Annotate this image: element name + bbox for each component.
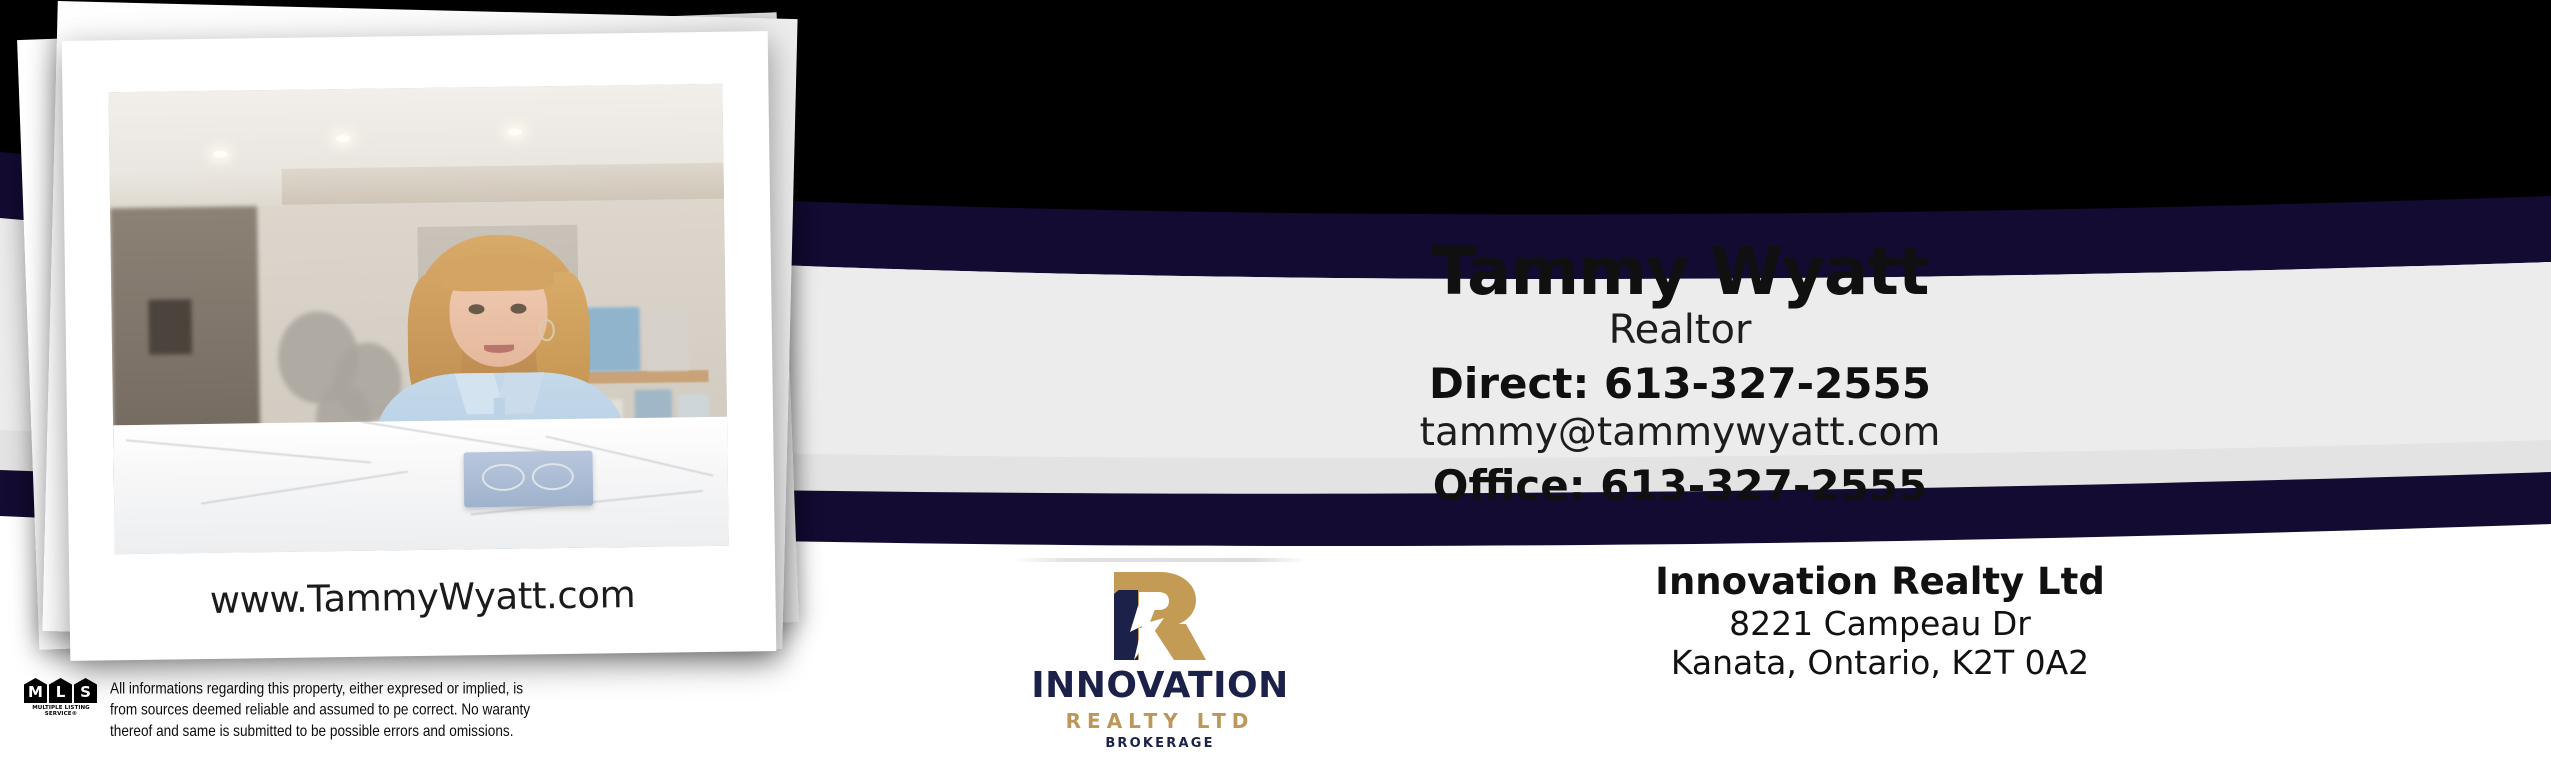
website-url[interactable]: www.TammyWyatt.com xyxy=(69,571,776,624)
agent-photo xyxy=(108,84,728,555)
realtor-banner: www.TammyWyatt.com Tammy Wyatt Realtor D… xyxy=(0,0,2551,760)
company-block: Innovation Realty Ltd 8221 Campeau Dr Ka… xyxy=(1600,560,2160,683)
agent-name: Tammy Wyatt xyxy=(1280,238,2080,305)
disclaimer-text: All informations regarding this property… xyxy=(110,678,540,741)
company-address-line1: 8221 Campeau Dr xyxy=(1600,604,2160,644)
agent-role: Realtor xyxy=(1280,307,2080,354)
agent-direct-phone[interactable]: Direct: 613-327-2555 xyxy=(1280,359,2080,409)
interior-scene xyxy=(108,84,728,555)
mls-caption: MULTIPLE LISTING SERVICE® xyxy=(23,705,98,717)
ir-monogram-icon xyxy=(1010,566,1310,666)
logo-divider xyxy=(1012,558,1307,562)
agent-photo-card: www.TammyWyatt.com xyxy=(62,31,777,661)
agent-email[interactable]: tammy@tammywyatt.com xyxy=(1280,410,2080,457)
mls-letter: M xyxy=(28,685,43,703)
company-address-line2: Kanata, Ontario, K2T 0A2 xyxy=(1600,643,2160,683)
mls-logo-icon: M L S MULTIPLE LISTING SERVICE® xyxy=(24,678,98,717)
logo-wordmark-sub: REALTY LTD xyxy=(1010,711,1310,731)
contact-block: Tammy Wyatt Realtor Direct: 613-327-2555… xyxy=(1280,238,2080,510)
company-name: Innovation Realty Ltd xyxy=(1600,560,2160,604)
brokerage-logo[interactable]: INNOVATION REALTY LTD BROKERAGE xyxy=(1010,566,1310,750)
logo-wordmark: INNOVATION xyxy=(1010,668,1310,704)
agent-office-phone[interactable]: Office: 613-327-2555 xyxy=(1280,461,2080,511)
marble-table xyxy=(113,416,729,554)
mls-letter: L xyxy=(56,685,66,703)
logo-wordmark-sub2: BROKERAGE xyxy=(1010,737,1310,750)
eyeglasses xyxy=(482,462,574,486)
mls-disclaimer: M L S MULTIPLE LISTING SERVICE® All info… xyxy=(24,678,540,732)
mls-letter: S xyxy=(80,685,91,703)
